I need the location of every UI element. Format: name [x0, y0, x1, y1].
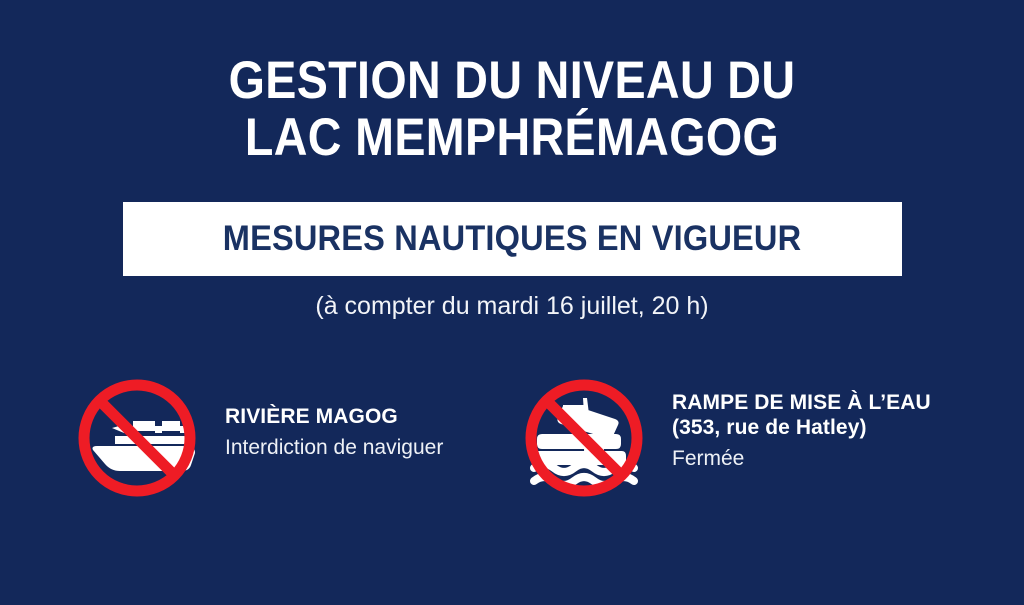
effective-date-note: (à compter du mardi 16 juillet, 20 h)	[0, 291, 1024, 321]
measures-banner-text: MESURES NAUTIQUES EN VIGUEUR	[223, 220, 802, 258]
page-title-line-2: LAC MEMPHRÉMAGOG	[61, 109, 962, 166]
measure-text-rampe-mise-a-leau: RAMPE DE MISE À L’EAU (353, rue de Hatle…	[672, 376, 931, 473]
measures-list: RIVIÈRE MAGOG Interdiction de naviguer	[0, 376, 1024, 506]
measure-item-riviere-magog: RIVIÈRE MAGOG Interdiction de naviguer	[75, 376, 443, 504]
poster: GESTION DU NIVEAU DU LAC MEMPHRÉMAGOG ME…	[0, 0, 1024, 605]
page-title: GESTION DU NIVEAU DU LAC MEMPHRÉMAGOG	[0, 52, 1024, 166]
no-boating-icon	[75, 376, 199, 500]
measure-heading: RIVIÈRE MAGOG	[225, 404, 443, 429]
measure-text-riviere-magog: RIVIÈRE MAGOG Interdiction de naviguer	[225, 376, 443, 462]
measure-status: Fermée	[672, 445, 931, 473]
no-boat-launch-icon	[522, 376, 646, 500]
measure-item-rampe-mise-a-leau: RAMPE DE MISE À L’EAU (353, rue de Hatle…	[522, 376, 931, 504]
measure-status: Interdiction de naviguer	[225, 434, 443, 462]
measure-heading: RAMPE DE MISE À L’EAU	[672, 390, 931, 415]
measures-banner: MESURES NAUTIQUES EN VIGUEUR	[123, 202, 902, 276]
measure-heading-line-2: (353, rue de Hatley)	[672, 415, 931, 440]
page-title-line-1: GESTION DU NIVEAU DU	[61, 52, 962, 109]
